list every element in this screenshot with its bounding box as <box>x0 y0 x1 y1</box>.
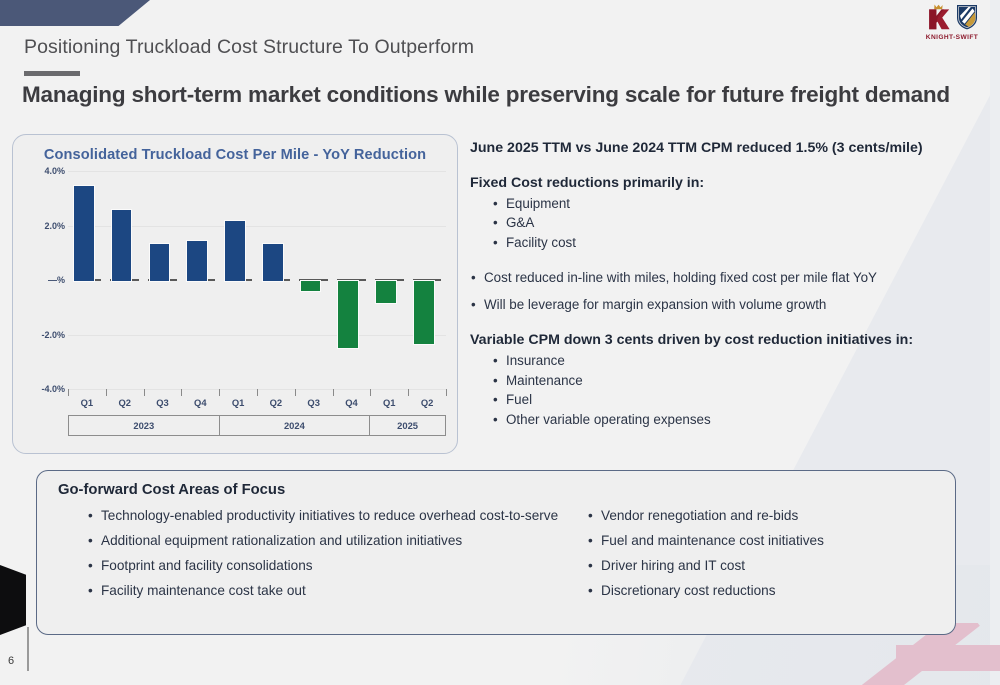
axis-tick <box>181 389 182 396</box>
focus-item: Additional equipment rationalization and… <box>101 532 571 550</box>
chart-year-groups: 202320242025 <box>68 415 446 436</box>
chart-y-axis-labels: 4.0%2.0%—%-2.0%-4.0% <box>21 171 65 389</box>
y-tick-label: -2.0% <box>41 330 65 340</box>
variable-cpm-heading: Variable CPM down 3 cents driven by cost… <box>470 332 996 348</box>
bar-slot <box>333 171 371 389</box>
title-rule-divider <box>24 71 80 76</box>
chart-bars <box>68 171 446 389</box>
cpm-summary-text: June 2025 TTM vs June 2024 TTM CPM reduc… <box>470 140 996 157</box>
company-logo: KNIGHT-SWIFT <box>912 6 992 44</box>
slide-canvas: Positioning Truckload Cost Structure To … <box>0 0 1000 685</box>
focus-item: Vendor renegotiation and re-bids <box>601 507 941 525</box>
year-group-label: 2025 <box>369 415 446 436</box>
chart-x-axis-ticks <box>68 389 446 397</box>
bar-slot <box>68 171 106 389</box>
bar-slot <box>295 171 333 389</box>
focus-item: Driver hiring and IT cost <box>601 557 941 575</box>
y-tick-label: -4.0% <box>41 384 65 394</box>
x-tick-label: Q1 <box>370 397 408 408</box>
x-tick-label: Q2 <box>408 397 446 408</box>
page-number: 6 <box>8 655 14 667</box>
fixed-cost-item: Equipment <box>506 194 996 213</box>
axis-tick <box>295 389 296 396</box>
logo-marks <box>926 6 978 33</box>
y-tick-label: 2.0% <box>44 221 65 231</box>
focus-item: Footprint and facility consolidations <box>101 557 571 575</box>
fixed-cost-item: G&A <box>506 213 996 232</box>
slide-eyebrow: Positioning Truckload Cost Structure To … <box>24 36 474 59</box>
x-tick-label: Q3 <box>295 397 333 408</box>
x-tick-label: Q1 <box>219 397 257 408</box>
focus-item: Discretionary cost reductions <box>601 582 941 600</box>
x-tick-label: Q4 <box>333 397 371 408</box>
page-title: Managing short-term market conditions wh… <box>22 82 950 108</box>
chart-title: Consolidated Truckload Cost Per Mile - Y… <box>13 147 457 163</box>
chart-bar <box>186 240 208 282</box>
chart-bar <box>300 280 322 292</box>
right-text-panel: June 2025 TTM vs June 2024 TTM CPM reduc… <box>470 140 996 429</box>
focus-item: Fuel and maintenance cost initiatives <box>601 532 941 550</box>
bar-slot <box>370 171 408 389</box>
axis-tick <box>408 389 409 396</box>
fixed-cost-heading: Fixed Cost reductions primarily in: <box>470 175 996 191</box>
x-tick-label: Q4 <box>181 397 219 408</box>
notes-list: Cost reduced in-line with miles, holding… <box>470 268 996 314</box>
axis-tick <box>219 389 220 396</box>
y-tick-label: 4.0% <box>44 166 65 176</box>
variable-cost-list: InsuranceMaintenanceFuelOther variable o… <box>470 351 996 429</box>
note-item: Cost reduced in-line with miles, holding… <box>484 268 996 287</box>
go-forward-right-list: Vendor renegotiation and re-bidsFuel and… <box>571 507 941 600</box>
y-tick-label: —% <box>48 275 65 285</box>
left-edge-black-shape <box>0 565 26 635</box>
variable-cost-item: Insurance <box>506 351 996 370</box>
axis-tick <box>106 389 107 396</box>
chart-x-axis-labels: Q1Q2Q3Q4Q1Q2Q3Q4Q1Q2 <box>68 397 446 408</box>
x-tick-label: Q3 <box>144 397 182 408</box>
go-forward-left-column: Technology-enabled productivity initiati… <box>71 507 571 607</box>
bar-slot <box>106 171 144 389</box>
axis-tick <box>257 389 258 396</box>
chart-card: Consolidated Truckload Cost Per Mile - Y… <box>12 134 458 454</box>
chart-bar <box>149 243 171 282</box>
fixed-cost-list: EquipmentG&AFacility cost <box>470 194 996 252</box>
chart-plot-area: 4.0%2.0%—%-2.0%-4.0% Q1Q2Q3Q4Q1Q2Q3Q4Q1Q… <box>13 171 459 455</box>
axis-tick <box>333 389 334 396</box>
chart-bar <box>413 280 435 345</box>
page-number-rule <box>27 627 29 671</box>
logo-wordmark: KNIGHT-SWIFT <box>926 34 978 41</box>
variable-cost-item: Fuel <box>506 390 996 409</box>
axis-tick <box>370 389 371 396</box>
chart-plot <box>68 171 446 389</box>
focus-item: Facility maintenance cost take out <box>101 582 571 600</box>
chart-bar <box>337 280 359 349</box>
axis-tick <box>446 389 447 396</box>
bar-slot <box>257 171 295 389</box>
bar-slot <box>219 171 257 389</box>
bar-slot <box>144 171 182 389</box>
go-forward-card: Go-forward Cost Areas of Focus Technolog… <box>36 470 956 635</box>
chart-bar <box>111 209 133 282</box>
knight-k-icon <box>926 4 951 35</box>
swift-shield-icon <box>956 4 978 35</box>
top-left-banner-shape <box>0 0 150 26</box>
bar-slot <box>408 171 446 389</box>
x-tick-label: Q2 <box>106 397 144 408</box>
x-tick-label: Q2 <box>257 397 295 408</box>
variable-cost-item: Other variable operating expenses <box>506 410 996 429</box>
x-tick-label: Q1 <box>68 397 106 408</box>
bar-slot <box>181 171 219 389</box>
chart-bar <box>73 185 95 282</box>
axis-tick <box>144 389 145 396</box>
go-forward-left-list: Technology-enabled productivity initiati… <box>71 507 571 600</box>
go-forward-title: Go-forward Cost Areas of Focus <box>58 482 285 498</box>
note-item: Will be leverage for margin expansion wi… <box>484 295 996 314</box>
fixed-cost-item: Facility cost <box>506 233 996 252</box>
year-group-label: 2023 <box>68 415 220 436</box>
go-forward-right-column: Vendor renegotiation and re-bidsFuel and… <box>571 507 941 607</box>
year-group-label: 2024 <box>219 415 371 436</box>
chart-bar <box>262 243 284 282</box>
focus-item: Technology-enabled productivity initiati… <box>101 507 571 525</box>
axis-tick <box>68 389 69 396</box>
variable-cost-item: Maintenance <box>506 371 996 390</box>
chart-bar <box>375 280 397 304</box>
chart-bar <box>224 220 246 282</box>
